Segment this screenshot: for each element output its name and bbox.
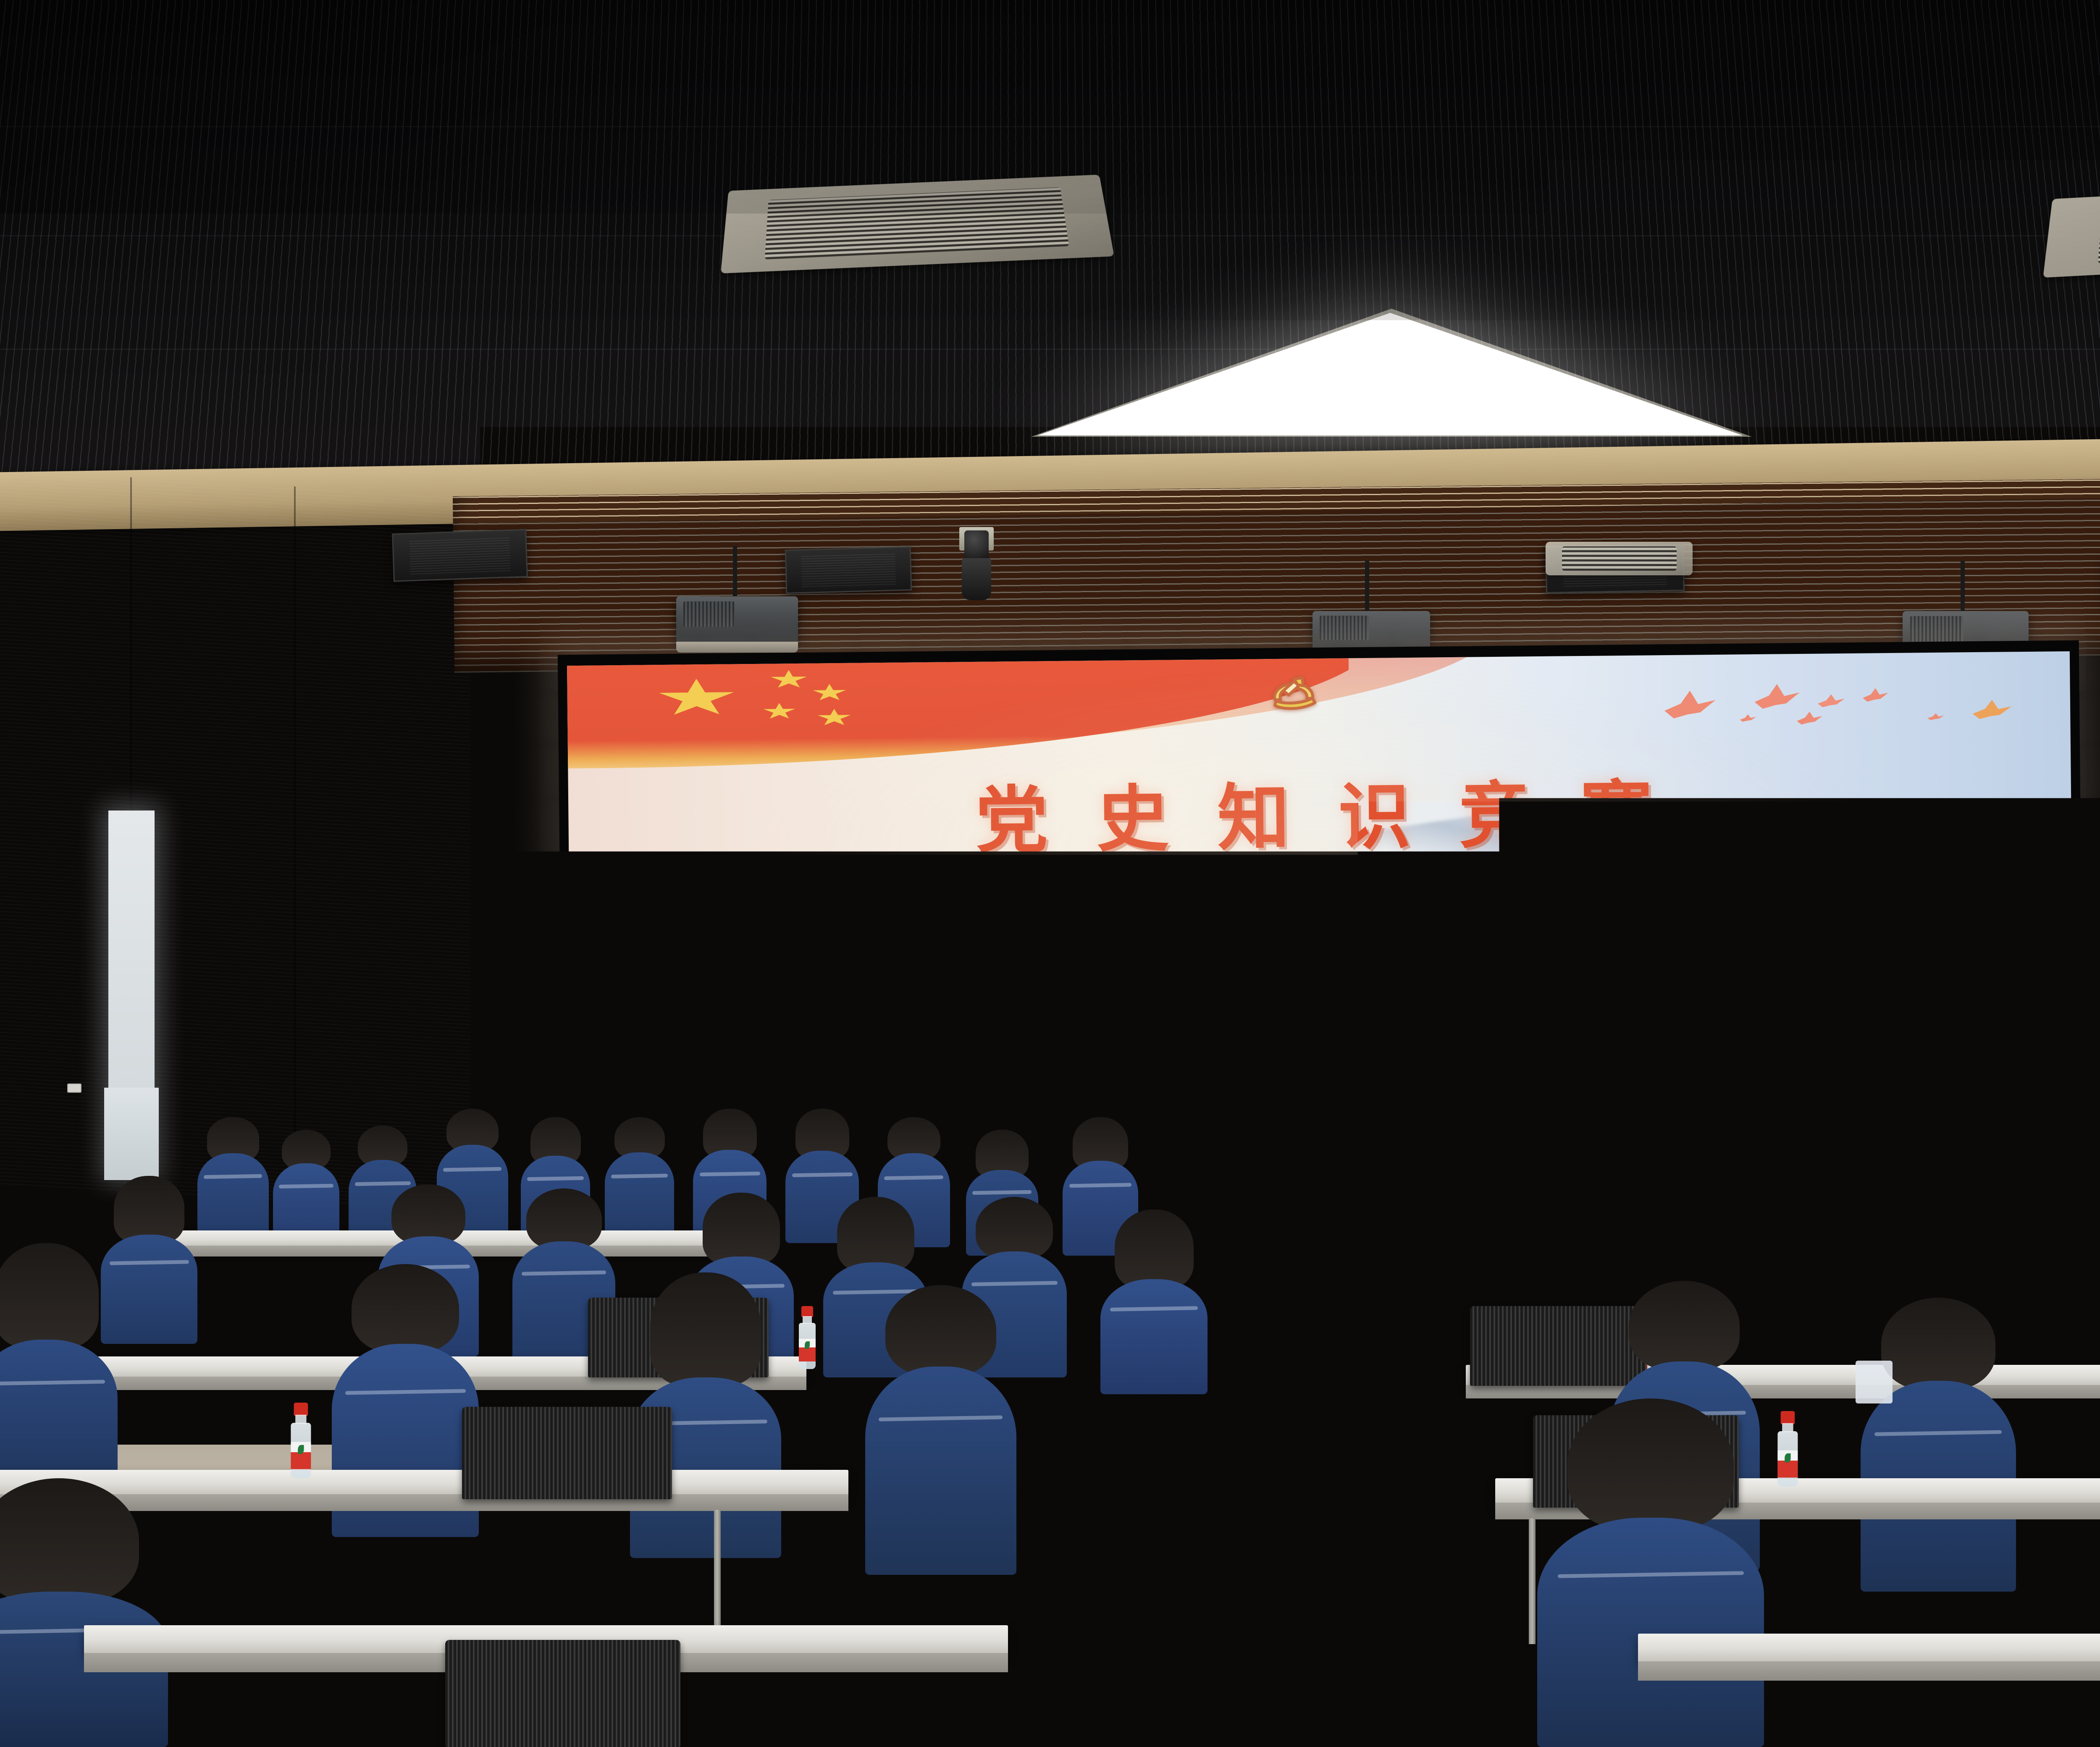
speaker-icon [785, 546, 912, 594]
audience-person [0, 1478, 168, 1747]
projector-mount [733, 546, 737, 601]
person-body [1100, 1279, 1207, 1394]
audience-person [865, 1285, 1016, 1575]
drum-stand [1293, 994, 1365, 1016]
ac-vent-icon [1546, 542, 1693, 575]
audience-person [1861, 1298, 2016, 1592]
person-hair [114, 1176, 184, 1243]
water-bottle [1777, 1411, 1799, 1487]
person-hair [1115, 1209, 1194, 1288]
light-switch[interactable] [67, 1083, 81, 1093]
desk-surface [1638, 1634, 2100, 1663]
bird-icon [1797, 711, 1822, 727]
bird-icon [1927, 713, 1944, 721]
person-hair [703, 1193, 780, 1265]
audience-person [1100, 1209, 1207, 1394]
pendant-body [296, 97, 326, 137]
person-hair [0, 1478, 139, 1604]
chair[interactable] [445, 1640, 680, 1747]
left-doorway-base[interactable] [104, 1088, 159, 1180]
face-mask-icon [1856, 1361, 1893, 1403]
person-hair [0, 1243, 99, 1348]
pendant-rod [309, 71, 311, 91]
bird-icon [1972, 700, 2012, 722]
podium-header-panel: DOUBLE ARROW [1764, 991, 1873, 1020]
person-hair [650, 1272, 761, 1386]
projector-icon [676, 596, 798, 646]
person-hair [526, 1188, 602, 1250]
person-hair [1850, 1205, 1929, 1270]
person-hair [1711, 1209, 1788, 1285]
presenter-hair [1797, 884, 1847, 911]
person-hair [1568, 1201, 1647, 1265]
chinese-drum-icon [1268, 954, 1389, 1016]
person-hair [391, 1184, 465, 1245]
person-hair [837, 1197, 914, 1272]
audience-person [1537, 1398, 1764, 1747]
person-hair [352, 1264, 459, 1353]
chair[interactable] [462, 1407, 672, 1499]
water-bottle [290, 1403, 312, 1478]
person-body [2087, 1162, 2100, 1260]
desk-apron [1638, 1661, 2100, 1681]
projector-mount [1961, 561, 1965, 615]
person-hair [2097, 1125, 2100, 1169]
ac-vent-icon [721, 175, 1114, 273]
person-hair [885, 1285, 996, 1376]
person-hair [1881, 1298, 1995, 1390]
conference-hall-photo: 党 史 知 识 竞 赛 双箭股份党委 2021年5月18日 DOUBLE ARR… [0, 0, 2100, 1747]
water-bottle [1375, 1182, 1390, 1233]
person-body [1537, 1518, 1764, 1747]
stage-light-switch[interactable] [1300, 1132, 1310, 1149]
cpc-hammer-sickle-emblem-icon [1251, 664, 1336, 721]
audience-person [197, 1117, 269, 1243]
desk-leg [714, 1510, 721, 1636]
laptop-icon[interactable] [1760, 944, 1861, 994]
bird-icon [1818, 694, 1845, 709]
person-hair [1629, 1281, 1740, 1371]
pendant-bulb [304, 171, 318, 187]
person-hair [1442, 1209, 1519, 1272]
water-bottle [798, 1306, 816, 1369]
microphone-icon [1721, 932, 1732, 945]
podium-brand-label: DOUBLE ARROW [1768, 999, 1869, 1013]
person-body [865, 1367, 1016, 1575]
audience-person [2087, 1125, 2100, 1260]
slide-title: 党 史 知 识 竞 赛 [568, 751, 2071, 871]
person-body [197, 1153, 269, 1243]
desk-leg [1529, 1518, 1536, 1644]
person-hair [976, 1197, 1053, 1260]
camera-lens [964, 530, 989, 561]
person-hair [1988, 1214, 2067, 1277]
camera-body [962, 558, 991, 600]
projector-mount [1365, 561, 1369, 615]
bird-icon [1740, 714, 1756, 723]
bird-icon [1664, 690, 1716, 723]
wall-panel-seam [294, 486, 296, 1200]
ceiling-camera-icon [953, 527, 1000, 607]
speaker-icon [392, 529, 528, 582]
triangular-light-panel [1037, 313, 1743, 435]
person-hair [1567, 1398, 1734, 1531]
bird-icon [1754, 684, 1800, 713]
bird-icon [1863, 688, 1888, 704]
microphone-icon [1861, 925, 1872, 937]
